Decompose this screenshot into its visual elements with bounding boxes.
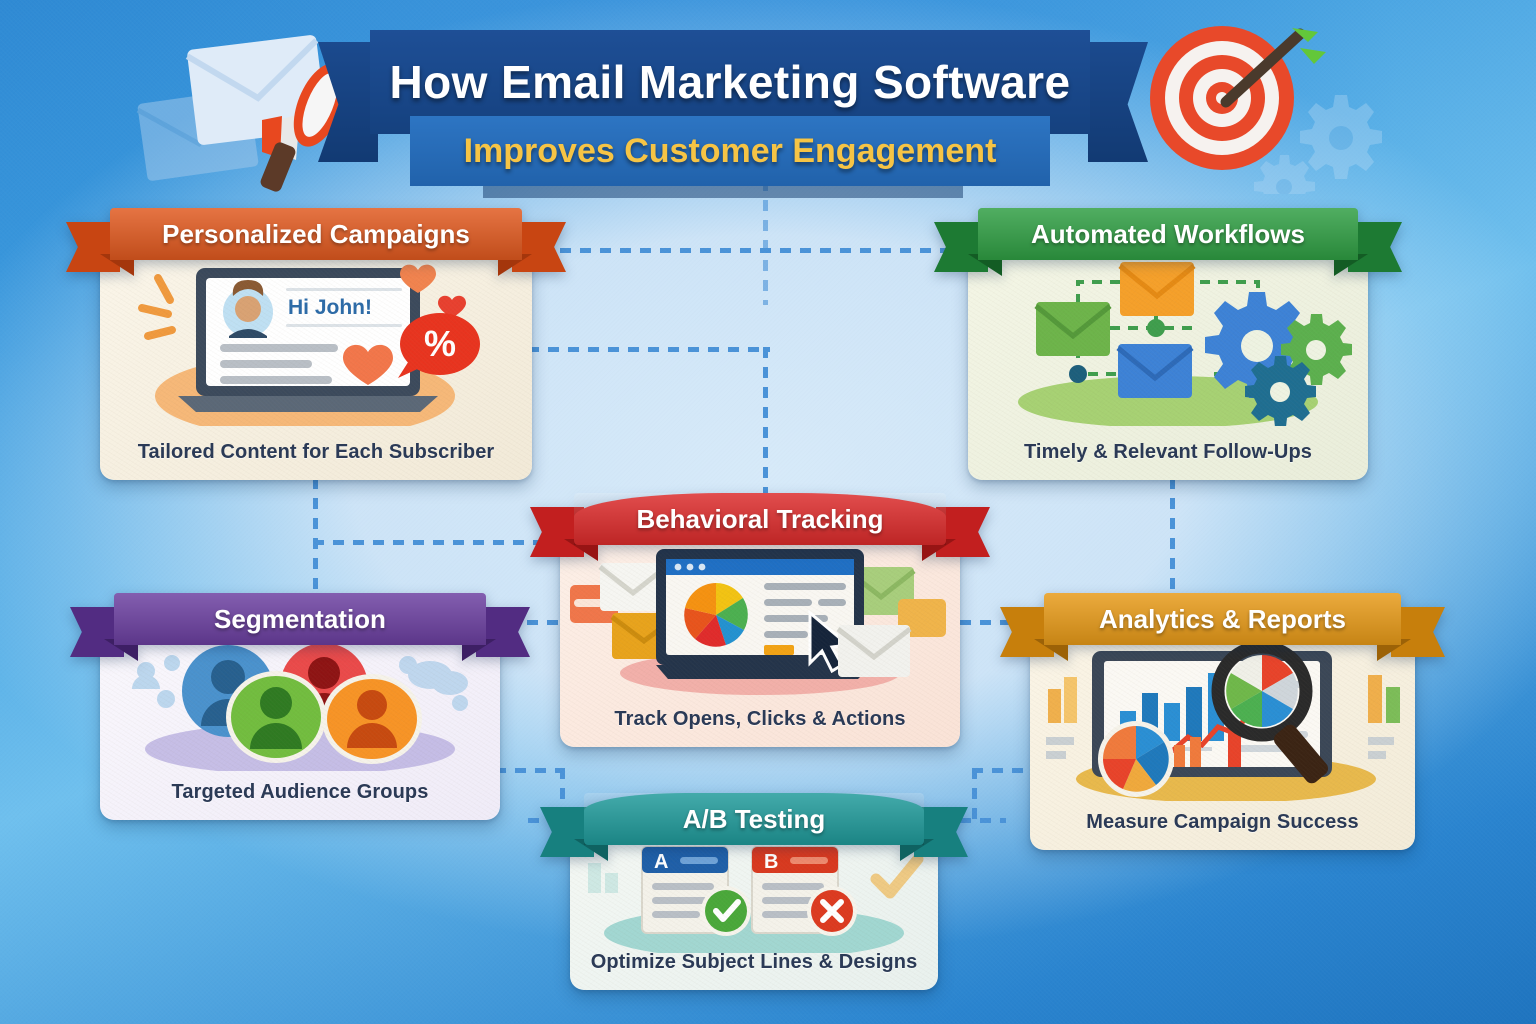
user-circle-orange-icon — [322, 674, 422, 764]
card-art-segmentation — [100, 641, 500, 771]
ribbon-band: Segmentation — [114, 593, 486, 645]
ribbon-label: Automated Workflows — [1031, 219, 1305, 250]
card-art-abtesting: A B — [570, 841, 938, 953]
user-silhouette-icon — [132, 655, 180, 708]
card-personalized-campaigns[interactable]: Hi John! % Tailored Content for Each Sub… — [100, 240, 532, 480]
connector-center-down-vertical — [763, 347, 768, 497]
ribbon-label: A/B Testing — [683, 804, 826, 835]
connector-right-down-vertical — [1170, 478, 1175, 604]
card-analytics-reports[interactable]: Measure Campaign Success Analytics & Rep… — [1030, 625, 1415, 850]
ribbon-label: Segmentation — [214, 604, 386, 635]
ribbon-band: A/B Testing — [584, 793, 924, 845]
svg-text:B: B — [764, 851, 778, 873]
ribbon-band: Behavioral Tracking — [574, 493, 946, 545]
user-circle-green-icon — [226, 671, 326, 763]
card-caption: Targeted Audience Groups — [100, 781, 500, 820]
ribbon-band: Automated Workflows — [978, 208, 1358, 260]
banner-sub-band: Improves Customer Engagement — [410, 116, 1050, 186]
banner-tail-left — [318, 42, 378, 162]
title-banner: How Email Marketing Software Improves Cu… — [318, 12, 1148, 202]
pie-chart-icon — [1098, 721, 1174, 797]
ribbon-segmentation: Segmentation — [114, 593, 486, 645]
svg-text:%: % — [424, 323, 456, 364]
infographic-canvas: How Email Marketing Software Improves Cu… — [0, 0, 1536, 1024]
ribbon-automated-workflows: Automated Workflows — [978, 208, 1358, 260]
check-circle-icon — [701, 886, 751, 936]
ribbon-ab-testing: A/B Testing — [584, 793, 924, 845]
spark-lines-icon — [142, 278, 172, 336]
card-ab-testing[interactable]: A B — [570, 825, 938, 990]
page-title-line2: Improves Customer Engagement — [464, 132, 997, 171]
card-body: Track Opens, Clicks & Actions — [560, 525, 960, 747]
pie-chart-icon — [684, 583, 748, 647]
ribbon-label: Behavioral Tracking — [636, 504, 883, 535]
card-body: Targeted Audience Groups — [100, 625, 500, 820]
card-caption: Measure Campaign Success — [1030, 811, 1415, 850]
envelope-blue-icon — [1118, 344, 1192, 398]
bar-chart-icon — [1046, 677, 1077, 759]
card-segmentation[interactable]: Targeted Audience Groups Segmentation — [100, 625, 500, 820]
connector-bottom-right-vertical — [972, 768, 977, 820]
banner-tail-right — [1088, 42, 1148, 162]
gear-icon — [1245, 356, 1316, 426]
ribbon-behavioral-tracking: Behavioral Tracking — [574, 493, 946, 545]
check-mark-icon — [876, 859, 918, 893]
card-body: Measure Campaign Success — [1030, 625, 1415, 850]
envelope-orange-icon — [1120, 262, 1194, 316]
card-art-workflows — [968, 256, 1368, 426]
card-art-personalized: Hi John! % — [100, 256, 532, 426]
card-body: Hi John! % Tailored Content for Each Sub… — [100, 240, 532, 480]
svg-text:A: A — [654, 851, 668, 873]
card-art-behavioral — [560, 541, 960, 696]
card-caption: Tailored Content for Each Subscriber — [100, 441, 532, 480]
dartboard-target-icon — [1150, 26, 1294, 170]
envelope-green-icon — [1036, 302, 1110, 356]
header-right-decoration — [1140, 14, 1410, 194]
card-caption: Timely & Relevant Follow-Ups — [968, 441, 1368, 480]
ribbon-analytics-reports: Analytics & Reports — [1044, 593, 1401, 645]
svg-text:Hi John!: Hi John! — [288, 296, 372, 319]
ribbon-label: Analytics & Reports — [1099, 604, 1346, 635]
card-behavioral-tracking[interactable]: Track Opens, Clicks & Actions Behavioral… — [560, 525, 960, 747]
card-art-analytics — [1030, 641, 1415, 801]
connector-left-lower-horizontal — [313, 540, 575, 545]
gear-icon — [1300, 95, 1382, 179]
card-automated-workflows[interactable]: Timely & Relevant Follow-Ups Automated W… — [968, 240, 1368, 480]
ribbon-label: Personalized Campaigns — [162, 219, 470, 250]
card-body: Timely & Relevant Follow-Ups — [968, 240, 1368, 480]
cross-circle-icon — [807, 886, 857, 936]
card-caption: Optimize Subject Lines & Designs — [570, 951, 938, 990]
page-title-line1: How Email Marketing Software — [390, 55, 1071, 109]
gear-icon — [1254, 155, 1315, 194]
envelope-white-icon — [838, 625, 910, 677]
connector-top-horizontal — [540, 248, 990, 253]
ribbon-personalized-campaigns: Personalized Campaigns — [110, 208, 522, 260]
card-body: A B — [570, 825, 938, 990]
card-caption: Track Opens, Clicks & Actions — [560, 708, 960, 747]
ribbon-band: Personalized Campaigns — [110, 208, 522, 260]
connector-left-mid-horizontal — [508, 347, 770, 352]
ribbon-band: Analytics & Reports — [1044, 593, 1401, 645]
bar-chart-icon — [1368, 675, 1400, 759]
